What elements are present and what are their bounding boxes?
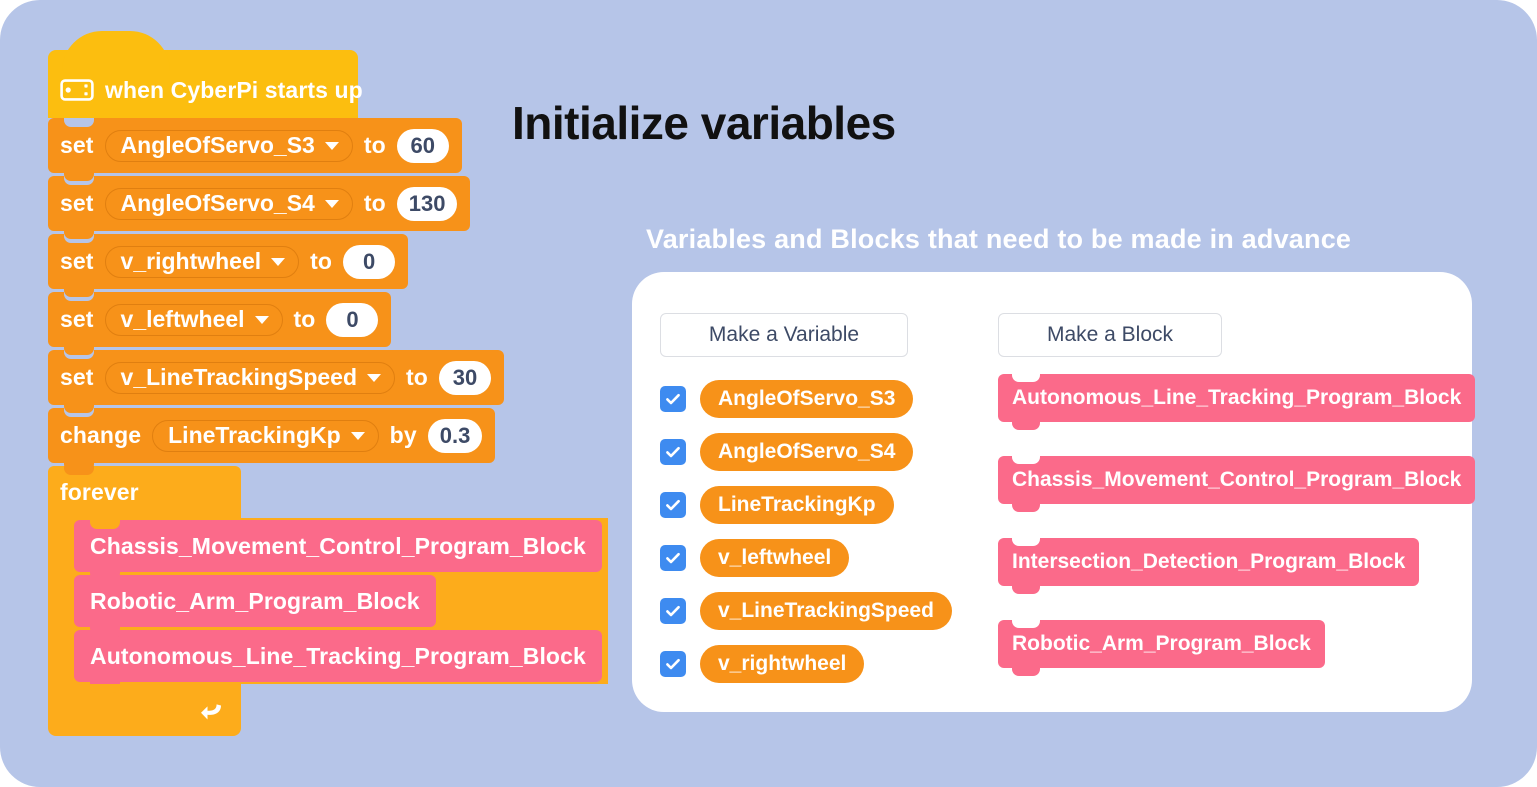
chevron-down-icon — [255, 316, 269, 324]
chevron-down-icon — [325, 200, 339, 208]
checkbox-v-rightwheel[interactable] — [660, 651, 686, 677]
checkbox-v-linetrackingspeed[interactable] — [660, 598, 686, 624]
chevron-down-icon — [271, 258, 285, 266]
change-block-linetrackingkp[interactable]: change LineTrackingKp by 0.3 — [48, 408, 495, 463]
set-verb-label: set — [60, 248, 94, 275]
variable-dropdown-v-linetrackingspeed[interactable]: v_LineTrackingSpeed — [105, 362, 395, 394]
checkbox-v-leftwheel[interactable] — [660, 545, 686, 571]
connector-label: to — [364, 190, 386, 217]
forever-block[interactable]: forever — [48, 466, 241, 518]
variable-row[interactable]: v_leftwheel — [660, 531, 952, 584]
forever-label: forever — [60, 479, 139, 506]
connector-label: to — [294, 306, 316, 333]
connector-label: by — [390, 422, 417, 449]
variable-row[interactable]: v_rightwheel — [660, 637, 952, 690]
set-block-v-leftwheel[interactable]: set v_leftwheel to 0 — [48, 292, 391, 347]
chevron-down-icon — [325, 142, 339, 150]
page-title: Initialize variables — [512, 96, 896, 150]
variable-chip[interactable]: AngleOfServo_S3 — [700, 380, 913, 418]
change-verb-label: change — [60, 422, 141, 449]
variable-row[interactable]: AngleOfServo_S3 — [660, 372, 952, 425]
dropdown-label: AngleOfServo_S3 — [121, 132, 315, 159]
value-input-v-leftwheel[interactable]: 0 — [326, 303, 378, 337]
variable-chip[interactable]: v_rightwheel — [700, 645, 864, 683]
hat-block-when-cyberpi-starts-up[interactable]: when CyberPi starts up — [48, 50, 358, 118]
dropdown-label: v_rightwheel — [121, 248, 262, 275]
chevron-down-icon — [367, 374, 381, 382]
custom-block-label: Chassis_Movement_Control_Program_Block — [90, 533, 586, 560]
set-block-angleofservo-s3[interactable]: set AngleOfServo_S3 to 60 — [48, 118, 462, 173]
set-block-v-rightwheel[interactable]: set v_rightwheel to 0 — [48, 234, 408, 289]
custom-block-robotic-arm[interactable]: Robotic_Arm_Program_Block — [998, 620, 1325, 668]
loop-arrow-icon — [199, 698, 225, 724]
variable-row[interactable]: LineTrackingKp — [660, 478, 952, 531]
variable-list: AngleOfServo_S3 AngleOfServo_S4 LineTrac… — [660, 372, 952, 690]
custom-block-label: Autonomous_Line_Tracking_Program_Block — [90, 643, 586, 670]
variable-dropdown-v-rightwheel[interactable]: v_rightwheel — [105, 246, 300, 278]
dropdown-label: LineTrackingKp — [168, 422, 341, 449]
checkbox-linetrackingkp[interactable] — [660, 492, 686, 518]
dropdown-label: v_leftwheel — [121, 306, 245, 333]
value-input-v-rightwheel[interactable]: 0 — [343, 245, 395, 279]
variable-dropdown-angleofservo-s3[interactable]: AngleOfServo_S3 — [105, 130, 353, 162]
checkbox-angleofservo-s3[interactable] — [660, 386, 686, 412]
make-a-block-button[interactable]: Make a Block — [998, 313, 1222, 357]
custom-block-label: Intersection_Detection_Program_Block — [1012, 550, 1405, 574]
slide-canvas: when CyberPi starts up set AngleOfServo_… — [0, 0, 1537, 787]
variable-row[interactable]: AngleOfServo_S4 — [660, 425, 952, 478]
variable-dropdown-linetrackingkp[interactable]: LineTrackingKp — [152, 420, 379, 452]
dropdown-label: v_LineTrackingSpeed — [121, 364, 357, 391]
variable-chip[interactable]: AngleOfServo_S4 — [700, 433, 913, 471]
custom-block-label: Robotic_Arm_Program_Block — [1012, 632, 1311, 656]
variable-row[interactable]: v_LineTrackingSpeed — [660, 584, 952, 637]
variable-chip[interactable]: LineTrackingKp — [700, 486, 894, 524]
custom-block-autonomous-line-tracking[interactable]: Autonomous_Line_Tracking_Program_Block — [998, 374, 1475, 422]
make-a-variable-button[interactable]: Make a Variable — [660, 313, 908, 357]
custom-block-chassis-movement-control[interactable]: Chassis_Movement_Control_Program_Block — [998, 456, 1475, 504]
chevron-down-icon — [351, 432, 365, 440]
set-verb-label: set — [60, 364, 94, 391]
panel-heading: Variables and Blocks that need to be mad… — [646, 224, 1351, 255]
forever-block-body: Chassis_Movement_Control_Program_Block R… — [48, 518, 608, 684]
dropdown-label: AngleOfServo_S4 — [121, 190, 315, 217]
cyberpi-icon — [60, 79, 94, 101]
custom-block-label: Autonomous_Line_Tracking_Program_Block — [1012, 386, 1461, 410]
set-block-v-linetrackingspeed[interactable]: set v_LineTrackingSpeed to 30 — [48, 350, 504, 405]
connector-label: to — [364, 132, 386, 159]
variable-dropdown-angleofservo-s4[interactable]: AngleOfServo_S4 — [105, 188, 353, 220]
custom-block-chassis-movement-control[interactable]: Chassis_Movement_Control_Program_Block — [74, 520, 602, 572]
value-input-v-linetrackingspeed[interactable]: 30 — [439, 361, 491, 395]
connector-label: to — [406, 364, 428, 391]
custom-block-intersection-detection[interactable]: Intersection_Detection_Program_Block — [998, 538, 1419, 586]
set-block-angleofservo-s4[interactable]: set AngleOfServo_S4 to 130 — [48, 176, 470, 231]
value-input-angleofservo-s4[interactable]: 130 — [397, 187, 458, 221]
block-script: when CyberPi starts up set AngleOfServo_… — [48, 50, 608, 736]
forever-block-foot[interactable] — [48, 684, 241, 736]
variable-chip[interactable]: v_LineTrackingSpeed — [700, 592, 952, 630]
set-verb-label: set — [60, 190, 94, 217]
hat-block-label: when CyberPi starts up — [105, 77, 363, 104]
value-input-angleofservo-s3[interactable]: 60 — [397, 129, 449, 163]
custom-block-robotic-arm[interactable]: Robotic_Arm_Program_Block — [74, 575, 436, 627]
custom-block-list: Autonomous_Line_Tracking_Program_Block C… — [998, 374, 1475, 702]
connector-label: to — [310, 248, 332, 275]
variable-chip[interactable]: v_leftwheel — [700, 539, 849, 577]
set-verb-label: set — [60, 132, 94, 159]
variables-and-blocks-card: Make a Variable Make a Block AngleOfServ… — [632, 272, 1472, 712]
custom-block-label: Robotic_Arm_Program_Block — [90, 588, 420, 615]
variable-dropdown-v-leftwheel[interactable]: v_leftwheel — [105, 304, 283, 336]
checkbox-angleofservo-s4[interactable] — [660, 439, 686, 465]
set-verb-label: set — [60, 306, 94, 333]
custom-block-label: Chassis_Movement_Control_Program_Block — [1012, 468, 1461, 492]
custom-block-autonomous-line-tracking[interactable]: Autonomous_Line_Tracking_Program_Block — [74, 630, 602, 682]
value-input-linetrackingkp[interactable]: 0.3 — [428, 419, 483, 453]
